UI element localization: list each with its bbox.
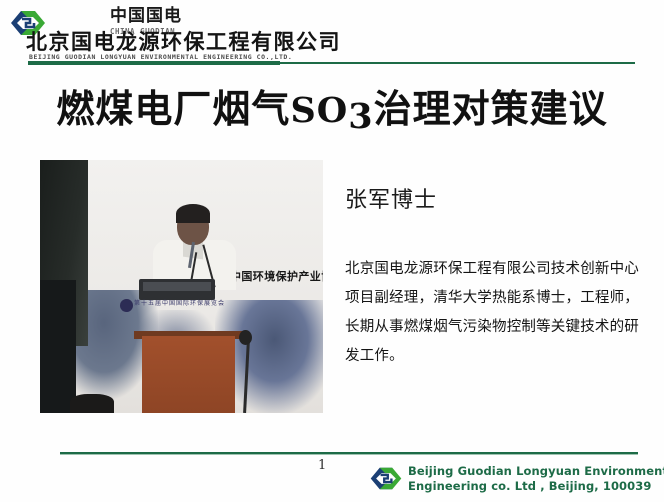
photo-laptop-screen xyxy=(143,282,211,291)
footer-line-1: Beijing Guodian Longyuan Environmental xyxy=(408,464,664,479)
company-name-en: BEIJING GUODIAN LONGYUAN ENVIRONMENTAL E… xyxy=(29,53,292,61)
slide-root: 中国国电 CHINA GUODIAN 北京国电龙源环保工程有限公司 BEIJIN… xyxy=(0,0,664,502)
title-part-2: 治理对策建议 xyxy=(374,87,608,131)
photo-foreground-head xyxy=(70,394,114,413)
slide-title: 燃煤电厂烟气SO3治理对策建议 xyxy=(0,78,664,133)
photo-podium xyxy=(142,336,235,413)
footer-divider xyxy=(60,452,638,454)
footer-company-address: Beijing Guodian Longyuan Environmental E… xyxy=(408,464,664,494)
footer-line-2: Engineering co. Ltd , Beijing, 100039 xyxy=(408,479,664,494)
brand-name-cn: 中国国电 xyxy=(110,6,182,26)
footer-guodian-g-logo-icon xyxy=(368,463,404,494)
photo-banner-logo-icon xyxy=(120,299,133,312)
header-divider-thick xyxy=(28,61,280,65)
page-number: 1 xyxy=(318,458,326,473)
photo-dark-region-lower-left xyxy=(40,280,76,413)
speaker-name: 张军博士 xyxy=(345,182,437,214)
slide-header: 中国国电 CHINA GUODIAN 北京国电龙源环保工程有限公司 BEIJIN… xyxy=(0,0,664,66)
title-formula-so: SO xyxy=(290,90,348,131)
photo-banner-text: 第十五届中国国际环保展览会 xyxy=(134,298,225,307)
speaker-photo: 中国环境保护产业协会 第十五届中国国际环保展览会 xyxy=(40,160,323,413)
footer-divider-highlight xyxy=(60,454,638,455)
photo-backdrop-text: 中国环境保护产业协会 xyxy=(230,268,323,284)
title-formula-subscript: 3 xyxy=(348,96,373,137)
title-part-1: 燃煤电厂烟气 xyxy=(56,87,290,131)
photo-person-hair xyxy=(176,204,210,223)
speaker-bio: 北京国电龙源环保工程有限公司技术创新中心项目副经理，清华大学热能系博士，工程师，… xyxy=(345,255,653,371)
photo-mic-head xyxy=(239,330,252,345)
company-name-cn: 北京国电龙源环保工程有限公司 xyxy=(26,30,341,54)
